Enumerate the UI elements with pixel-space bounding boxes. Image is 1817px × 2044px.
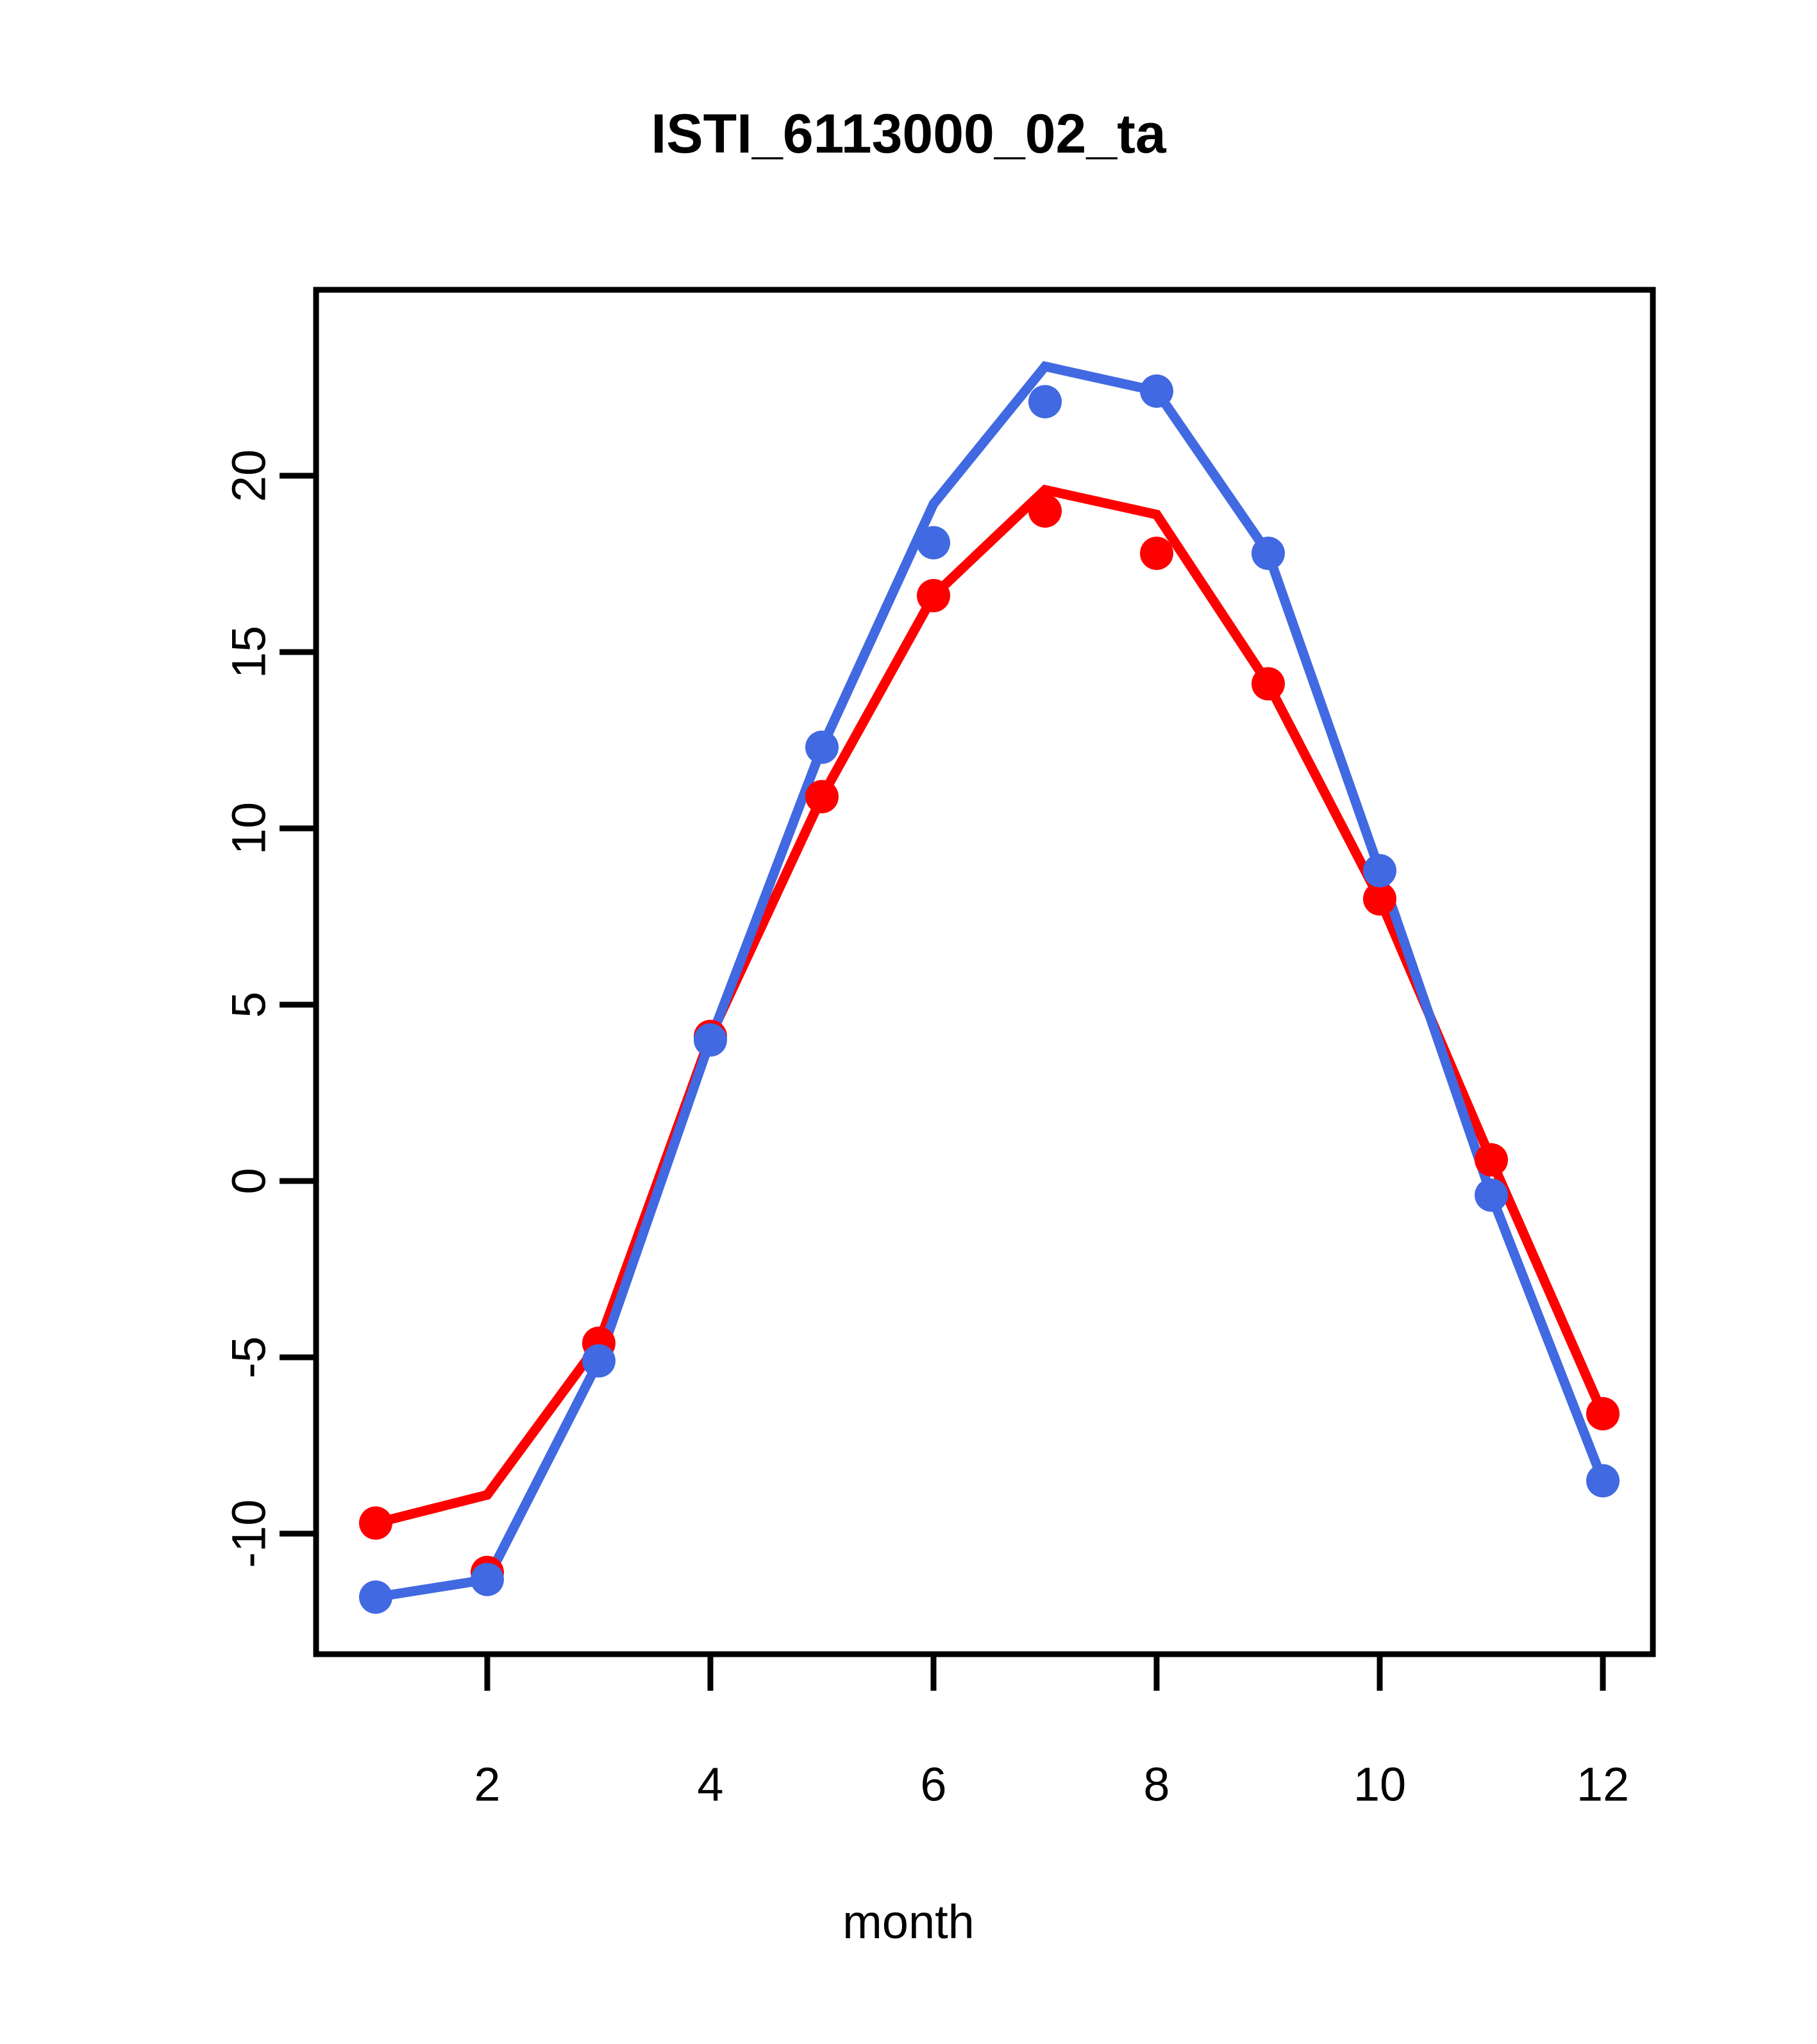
y-tick-label: 15	[222, 626, 276, 678]
y-axis-ticks	[280, 476, 316, 1534]
data-point-blue-series	[582, 1345, 615, 1378]
plot-area: 20151050-5-10 24681012	[0, 0, 1817, 2044]
chart-page: ISTI_6113000_02_ta 20151050-5-10 2468101…	[0, 0, 1817, 2044]
y-tick-label: 10	[222, 802, 276, 855]
y-tick-label: 5	[222, 991, 276, 1018]
data-point-blue-series	[917, 526, 950, 560]
x-tick-label: 12	[1577, 1758, 1629, 1811]
x-axis-ticks	[487, 1654, 1603, 1691]
series-line-red-series	[376, 490, 1603, 1523]
data-point-red-series	[917, 579, 950, 612]
x-tick-label: 4	[697, 1758, 723, 1811]
data-point-blue-series	[1252, 537, 1285, 570]
series-points	[359, 374, 1620, 1614]
y-axis-tick-labels: 20151050-5-10	[222, 449, 276, 1568]
y-tick-label: 20	[222, 449, 276, 502]
data-point-red-series	[1586, 1397, 1620, 1430]
series-lines	[376, 367, 1603, 1598]
data-point-blue-series	[1475, 1178, 1508, 1212]
data-point-blue-series	[1140, 374, 1173, 408]
x-tick-label: 2	[474, 1758, 500, 1811]
x-tick-label: 8	[1143, 1758, 1169, 1811]
x-axis-label: month	[0, 1895, 1817, 1949]
y-tick-label: 0	[222, 1168, 276, 1194]
data-point-blue-series	[1363, 854, 1396, 887]
data-point-blue-series	[694, 1023, 727, 1057]
data-point-red-series	[359, 1507, 392, 1540]
series-line-blue-series	[376, 367, 1603, 1598]
data-point-red-series	[1140, 537, 1173, 570]
data-point-blue-series	[1028, 385, 1062, 419]
data-point-red-series	[1252, 667, 1285, 701]
data-point-red-series	[805, 780, 839, 814]
data-point-blue-series	[805, 731, 839, 764]
x-tick-label: 6	[920, 1758, 946, 1811]
data-point-red-series	[1475, 1143, 1508, 1177]
data-point-blue-series	[1586, 1464, 1620, 1498]
data-point-red-series	[1028, 494, 1062, 528]
x-axis-tick-labels: 24681012	[474, 1758, 1629, 1811]
data-point-blue-series	[471, 1563, 504, 1596]
y-tick-label: -5	[222, 1336, 276, 1378]
x-tick-label: 10	[1353, 1758, 1406, 1811]
data-point-blue-series	[359, 1580, 392, 1614]
y-tick-label: -10	[222, 1500, 276, 1568]
